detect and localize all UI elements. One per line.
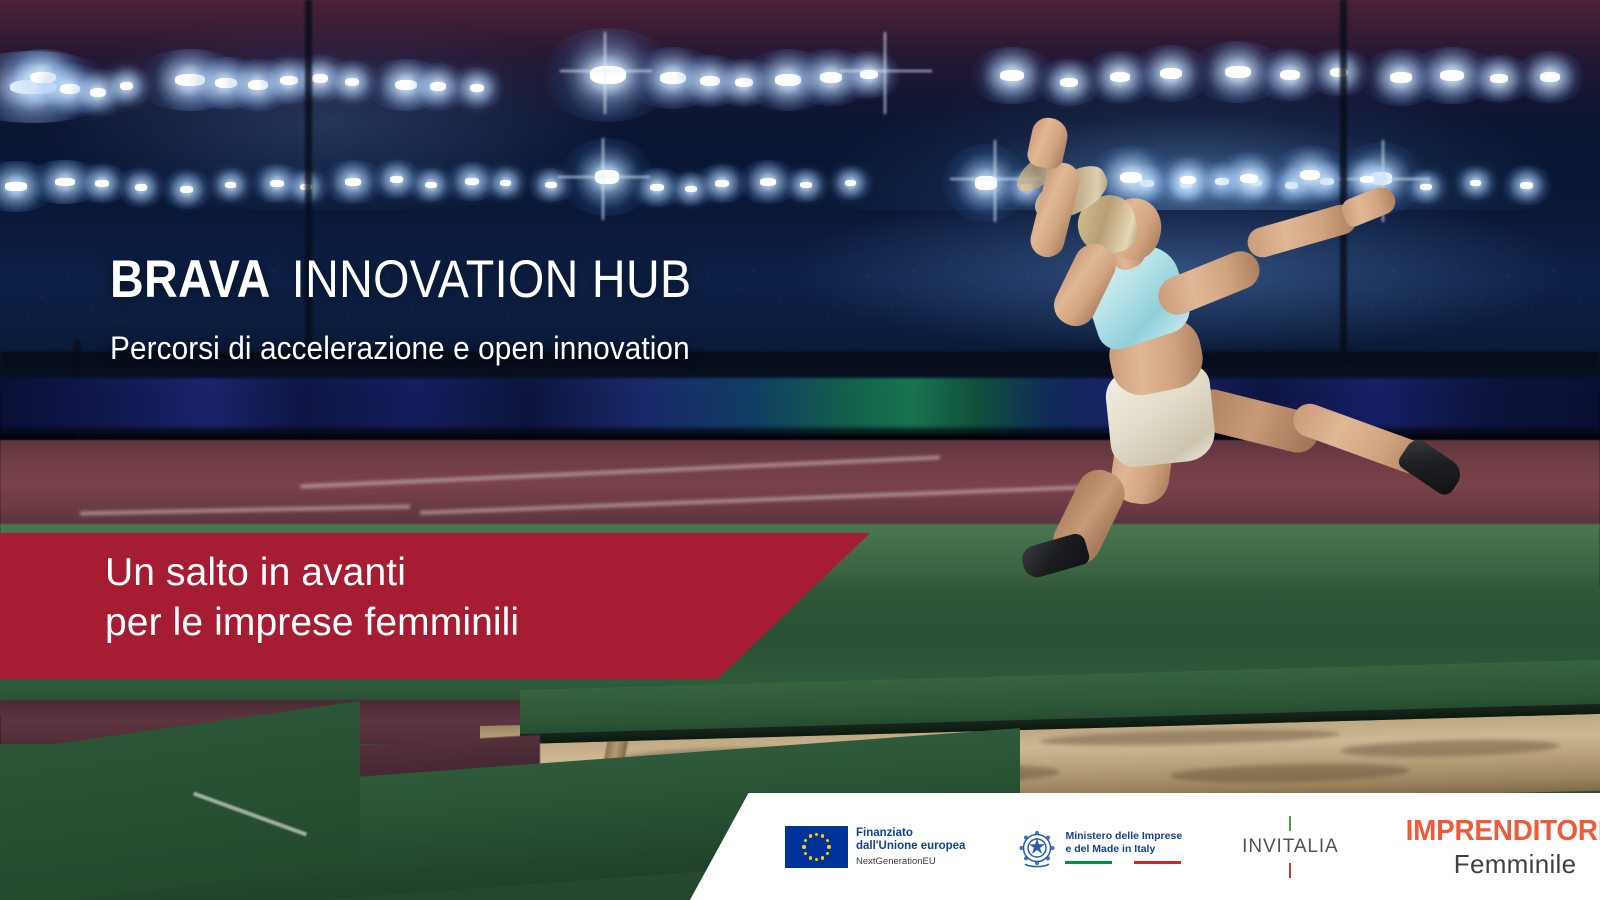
- floodlight-lamp: [1280, 70, 1300, 80]
- floodlight-glow: [558, 176, 650, 178]
- floodlight-lamp: [430, 82, 446, 91]
- athlete-long-jumper-photo: [960, 100, 1520, 540]
- invitalia-green-tick-icon: [1289, 816, 1291, 831]
- floodlight-lamp: [470, 84, 484, 92]
- floodlight-lamp: [465, 178, 479, 185]
- floodlight-lamp: [1060, 78, 1078, 87]
- eu-star-icon: [809, 834, 812, 837]
- page-title: BRAVAINNOVATION HUB: [110, 251, 691, 309]
- page-subtitle: Percorsi di accelerazione e open innovat…: [110, 329, 690, 367]
- floodlight-lamp: [345, 178, 361, 186]
- floodlight-lamp: [1540, 72, 1560, 82]
- ministry-logo-text: Ministero delle Imprese e del Made in It…: [1065, 830, 1182, 865]
- italian-tricolor-bars: [1065, 861, 1182, 864]
- hero-banner-page: BRAVAINNOVATION HUB Percorsi di accelera…: [0, 0, 1600, 900]
- floodlight-lamp: [650, 184, 664, 191]
- floodlight-lamp: [715, 180, 729, 187]
- eu-star-icon: [809, 856, 812, 859]
- floodlight-lamp: [1225, 66, 1251, 78]
- floodlight-lamp: [120, 82, 133, 90]
- tricolor-green-bar: [1065, 861, 1112, 864]
- eu-line-3: NextGenerationEU: [856, 856, 965, 867]
- floodlight-lamp: [1520, 182, 1533, 189]
- floodlight-lamp: [135, 184, 147, 191]
- floodlight-lamp: [1440, 70, 1464, 81]
- invitalia-red-tick-icon: [1289, 863, 1291, 878]
- floodlight-lamp: [345, 78, 359, 86]
- ministry-line-1: Ministero delle Imprese: [1065, 830, 1182, 843]
- logo-european-union: Finanziato dall'Unione europea NextGener…: [785, 826, 965, 868]
- floodlight-lamp: [760, 178, 776, 186]
- imprenditoria-wordmark: IMPRENDITORIA: [1405, 815, 1600, 848]
- floodlight-lamp: [95, 180, 109, 187]
- floodlight-glow: [602, 138, 604, 220]
- floodlight-lamp: [545, 182, 557, 188]
- logo-invitalia: INVITALIA: [1242, 816, 1338, 878]
- floodlight-glow: [840, 70, 932, 72]
- floodlight-lamp: [800, 182, 812, 188]
- floodlight-lamp: [5, 182, 27, 191]
- floodlight-lamp: [225, 182, 236, 188]
- eu-star-icon: [804, 852, 807, 855]
- floodlight-lamp: [55, 178, 75, 186]
- floodlight-lamp: [425, 182, 437, 188]
- floodlight-lamp: [845, 180, 856, 186]
- femminile-wordmark: Femminile: [1401, 849, 1600, 880]
- eu-line-1: Finanziato: [856, 827, 965, 841]
- floodlight-lamp: [180, 186, 193, 193]
- italian-republic-emblem-icon: [1017, 824, 1057, 870]
- ministry-line-2: e del Made in Italy: [1065, 843, 1182, 856]
- floodlight-lamp: [590, 66, 626, 84]
- tricolor-red-bar: [1134, 861, 1181, 864]
- eu-star-icon: [826, 852, 829, 855]
- footer-logos: Finanziato dall'Unione europea NextGener…: [785, 800, 1545, 894]
- floodlight-lamp: [390, 176, 403, 183]
- eu-line-2: dall'Unione europea: [856, 840, 965, 854]
- invitalia-wordmark: INVITALIA: [1242, 836, 1338, 858]
- eu-logo-text: Finanziato dall'Unione europea NextGener…: [856, 827, 965, 868]
- red-callout-text: Un salto in avanti per le imprese femmin…: [105, 548, 725, 648]
- eu-star-icon: [827, 845, 830, 848]
- floodlight-glow: [884, 32, 886, 114]
- eu-star-icon: [815, 833, 818, 836]
- floodlight-lamp: [500, 180, 511, 186]
- floodlight-lamp: [1110, 72, 1130, 82]
- floodlight-lamp: [1160, 68, 1182, 79]
- floodlight-lamp: [1000, 70, 1024, 81]
- logo-imprenditoria-femminile: IMPRENDITORIA Femminile: [1401, 815, 1600, 880]
- eu-star-icon: [815, 858, 818, 861]
- logo-ministry-of-enterprises: Ministero delle Imprese e del Made in It…: [1017, 824, 1182, 870]
- athlete-right-hand: [1339, 183, 1400, 229]
- eu-flag-icon: [785, 826, 848, 868]
- eu-star-icon: [821, 834, 824, 837]
- floodlight-lamp: [1490, 74, 1508, 83]
- title-rest: INNOVATION HUB: [292, 250, 692, 309]
- eu-star-icon: [826, 839, 829, 842]
- eu-star-icon: [821, 856, 824, 859]
- eu-star-icon: [804, 839, 807, 842]
- eu-star-icon: [802, 845, 805, 848]
- floodlight-glow: [560, 70, 652, 72]
- title-brand: BRAVA: [110, 250, 271, 309]
- floodlight-glow: [604, 32, 606, 114]
